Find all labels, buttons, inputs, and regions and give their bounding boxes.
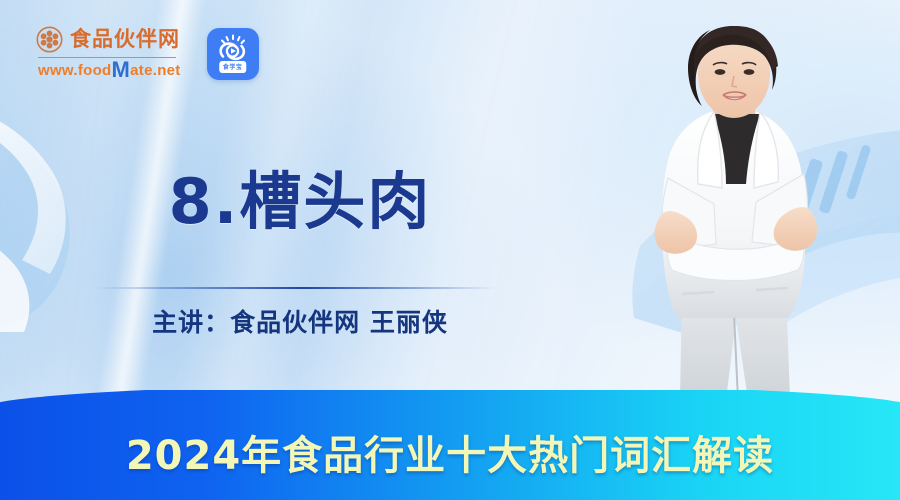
title-divider <box>95 287 495 289</box>
foodmate-logo[interactable]: 食品伙伴网 www.foodMate.net <box>36 26 181 81</box>
slide-root: 食品伙伴网 www.foodMate.net <box>0 0 900 500</box>
app-badge-label: 食学宝 <box>219 61 247 73</box>
banner-title: 2024年食品行业十大热门词汇解读 <box>0 423 900 481</box>
brand-url-suffix: ate.net <box>130 62 180 79</box>
brand-url-m: M <box>112 57 131 82</box>
brand-url: www.foodMate.net <box>38 59 181 81</box>
presenter-subtitle: 主讲：食品伙伴网 王丽侠 <box>0 303 600 339</box>
brand-name-cn: 食品伙伴网 <box>70 29 180 50</box>
shixuebao-app-icon[interactable]: 食学宝 <box>207 28 259 80</box>
brand-url-prefix: www.food <box>38 62 112 79</box>
header-logos: 食品伙伴网 www.foodMate.net <box>36 26 259 81</box>
foodmate-flower-circle-icon <box>36 26 63 53</box>
page-title: 8.槽头肉 <box>0 168 600 236</box>
presenter-photo <box>610 18 860 400</box>
brand-rule <box>38 57 176 58</box>
bottom-banner: 2024年食品行业十大热门词汇解读 <box>0 390 900 500</box>
